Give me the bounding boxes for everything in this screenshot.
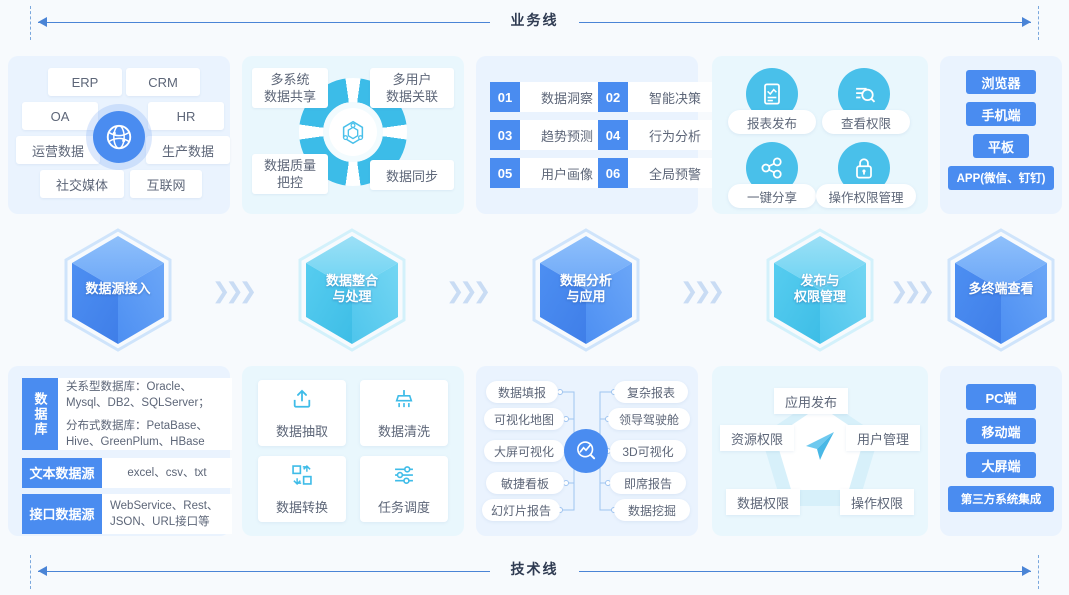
axis-cap-left [30,555,31,589]
axis-line-left [38,571,490,572]
mm-right-2[interactable]: 领导驾驶舱 [608,408,690,430]
db-key: 文本数据源 [22,458,102,488]
mm-left-5[interactable]: 幻灯片报告 [482,499,560,521]
chip-operations-data[interactable]: 运营数据 [16,136,100,164]
axis-label-technical: 技术线 [495,559,575,579]
chevron-right-icon-4: ❯❯❯ [890,278,930,304]
axis-line-right [579,571,1031,572]
axis-cap-left [30,6,31,40]
pentagon-label-user-management[interactable]: 用户管理 [846,425,920,451]
chip-line-2: 数据关联 [386,88,438,105]
num-item-05[interactable]: 05 用户画像 [490,158,614,188]
num-badge: 01 [490,82,520,112]
db-row-api-source[interactable]: 接口数据源 WebService、Rest、JSON、URL接口等 [22,494,232,534]
terminal-browser[interactable]: 浏览器 [966,70,1036,94]
num-item-03[interactable]: 03 趋势预测 [490,120,614,150]
terminal-pc[interactable]: PC端 [966,384,1036,410]
chip-line-2: 把控 [277,174,303,191]
caption-one-click-share[interactable]: 一键分享 [728,184,816,208]
axis-label-business: 业务线 [495,10,575,30]
panel-etl-tools: 数据抽取 数据清洗 数据转换 [242,366,464,536]
db-key: 接口数据源 [22,494,102,534]
db-key: 数据库 [22,378,58,450]
db-row-database[interactable]: 数据库 关系型数据库：Oracle、Mysql、DB2、SQLServer； 分… [22,378,232,450]
num-badge: 03 [490,120,520,150]
hexagon-stage-5-wrap: 多终端查看 [949,230,1053,348]
chip-erp[interactable]: ERP [48,68,122,96]
data-cube-node-icon [323,102,383,162]
db-value-line-1: 关系型数据库：Oracle、Mysql、DB2、SQLServer； [66,379,224,411]
chip-data-quality-control[interactable]: 数据质量 把控 [252,154,328,194]
mm-left-2[interactable]: 可视化地图 [484,408,564,430]
num-label: 行为分析 [628,120,722,150]
num-item-01[interactable]: 01 数据洞察 [490,82,614,112]
hexagon-label-1: 数据源接入 [66,230,170,348]
pentagon-label-resource-permission[interactable]: 资源权限 [720,425,794,451]
hexagon-stage-4-wrap: 发布与权限管理 [768,230,872,348]
num-badge: 06 [598,158,628,188]
tile-data-extract[interactable]: 数据抽取 [258,380,346,446]
mm-right-1[interactable]: 复杂报表 [614,381,688,403]
chevron-right-icon-1: ❯❯❯ [212,278,252,304]
chip-line-2: 数据共享 [264,88,316,105]
terminal-tablet[interactable]: 平板 [973,134,1029,158]
hexagon-stage-3-wrap: 数据分析与应用 [534,230,638,348]
mm-right-4[interactable]: 即席报告 [610,472,686,494]
panel-permission-pentagon: 应用发布 资源权限 用户管理 数据权限 操作权限 [712,366,928,536]
pentagon-label-operation-permission[interactable]: 操作权限 [840,489,914,515]
chip-internet[interactable]: 互联网 [130,170,202,198]
arrow-right-icon [1022,566,1031,576]
caption-view-permission[interactable]: 查看权限 [822,110,910,134]
scheduler-sliders-icon [391,462,417,491]
panel-data-analysis: 01 数据洞察 02 智能决策 03 趋势预测 04 行为分析 05 用户画像 … [476,56,698,214]
hexagon-label-5: 多终端查看 [949,230,1053,348]
chevron-right-icon-3: ❯❯❯ [680,278,720,304]
chip-production-data[interactable]: 生产数据 [146,136,230,164]
hexagon-stage-2-wrap: 数据整合与处理 [300,230,404,348]
tile-task-schedule[interactable]: 任务调度 [360,456,448,522]
tile-label: 数据清洗 [378,421,430,440]
broom-clean-icon [391,386,417,415]
pentagon-label-app-publish[interactable]: 应用发布 [774,388,848,414]
db-value: excel、csv、txt [102,458,232,488]
num-label: 全局预警 [628,158,722,188]
hexagon-label-2: 数据整合与处理 [300,230,404,348]
db-value: WebService、Rest、JSON、URL接口等 [102,494,232,534]
db-value-line-2: 分布式数据库：PetaBase、Hive、GreenPlum、HBase [66,418,224,450]
num-item-06[interactable]: 06 全局预警 [598,158,722,188]
pentagon-label-data-permission[interactable]: 数据权限 [726,489,800,515]
chip-multi-system-sharing[interactable]: 多系统 数据共享 [252,68,328,108]
mm-right-3[interactable]: 3D可视化 [610,440,686,462]
num-label: 智能决策 [628,82,722,112]
axis-cap-right [1038,555,1039,589]
chip-crm[interactable]: CRM [126,68,200,96]
axis-line-right [579,22,1031,23]
business-line-axis: 业务线 [0,0,1069,46]
panel-publish-permission: 报表发布 查看权限 一键分享 [712,56,928,214]
chip-social-media[interactable]: 社交媒体 [40,170,124,198]
chip-multi-user-relation[interactable]: 多用户 数据关联 [370,68,454,108]
terminal-bigscreen[interactable]: 大屏端 [966,452,1036,478]
axis-cap-right [1038,6,1039,40]
chevron-right-icon-2: ❯❯❯ [446,278,486,304]
arrow-right-icon [1022,17,1031,27]
arrow-left-icon [38,17,47,27]
upload-extract-icon [289,386,315,415]
terminal-app[interactable]: APP(微信、钉钉) [948,166,1054,190]
num-badge: 05 [490,158,520,188]
analytics-search-icon [564,429,608,473]
terminal-mobile[interactable]: 手机端 [966,102,1036,126]
db-row-text-source[interactable]: 文本数据源 excel、csv、txt [22,458,232,488]
technical-line-axis: 技术线 [0,549,1069,595]
paper-plane-icon [798,424,842,473]
chip-line-1: 多系统 [270,71,309,88]
panel-analysis-apps: 数据填报 可视化地图 大屏可视化 敏捷看板 幻灯片报告 复杂报表 领导驾驶舱 3… [476,366,698,536]
terminal-mobile-b[interactable]: 移动端 [966,418,1036,444]
panel-terminals-bottom: PC端 移动端 大屏端 第三方系统集成 [940,366,1062,536]
panel-terminals-top: 浏览器 手机端 平板 APP(微信、钉钉) [940,56,1062,214]
panel-data-sources: ERP CRM OA HR 运营数据 生产数据 社交媒体 互联网 [8,56,230,214]
mm-right-5[interactable]: 数据挖掘 [614,499,690,521]
db-value: 关系型数据库：Oracle、Mysql、DB2、SQLServer； 分布式数据… [58,378,232,450]
caption-report-publish[interactable]: 报表发布 [728,110,816,134]
hexagon-label-4: 发布与权限管理 [768,230,872,348]
network-globe-icon [93,111,145,163]
num-item-02[interactable]: 02 智能决策 [598,82,722,112]
panel-data-integration: 多系统 数据共享 多用户 数据关联 数据质量 把控 数据同步 [242,56,464,214]
hexagon-label-3: 数据分析与应用 [534,230,638,348]
chip-line-1: 数据质量 [264,157,316,174]
chip-hr[interactable]: HR [148,102,224,130]
tile-label: 数据抽取 [276,421,328,440]
mm-left-3[interactable]: 大屏可视化 [484,440,564,462]
tile-data-transform[interactable]: 数据转换 [258,456,346,522]
tile-label: 任务调度 [378,497,430,516]
num-item-04[interactable]: 04 行为分析 [598,120,722,150]
tile-label: 数据转换 [276,497,328,516]
chip-oa[interactable]: OA [22,102,98,130]
chip-data-sync[interactable]: 数据同步 [370,160,454,190]
hexagon-stage-1-wrap: 数据源接入 [66,230,170,348]
axis-line-left [38,22,490,23]
mm-left-4[interactable]: 敏捷看板 [486,472,564,494]
tile-data-clean[interactable]: 数据清洗 [360,380,448,446]
num-badge: 04 [598,120,628,150]
diagram-canvas: 业务线 ERP CRM OA HR 运营数据 生产数据 社交媒体 互联网 [0,0,1069,595]
arrow-left-icon [38,566,47,576]
chip-line-1: 多用户 [392,71,431,88]
mm-left-1[interactable]: 数据填报 [486,381,558,403]
num-badge: 02 [598,82,628,112]
terminal-third-party[interactable]: 第三方系统集成 [948,486,1054,512]
transform-icon [289,462,315,491]
panel-datasource-detail: 数据库 关系型数据库：Oracle、Mysql、DB2、SQLServer； 分… [8,366,230,536]
caption-operation-permission-mgmt[interactable]: 操作权限管理 [816,184,916,208]
